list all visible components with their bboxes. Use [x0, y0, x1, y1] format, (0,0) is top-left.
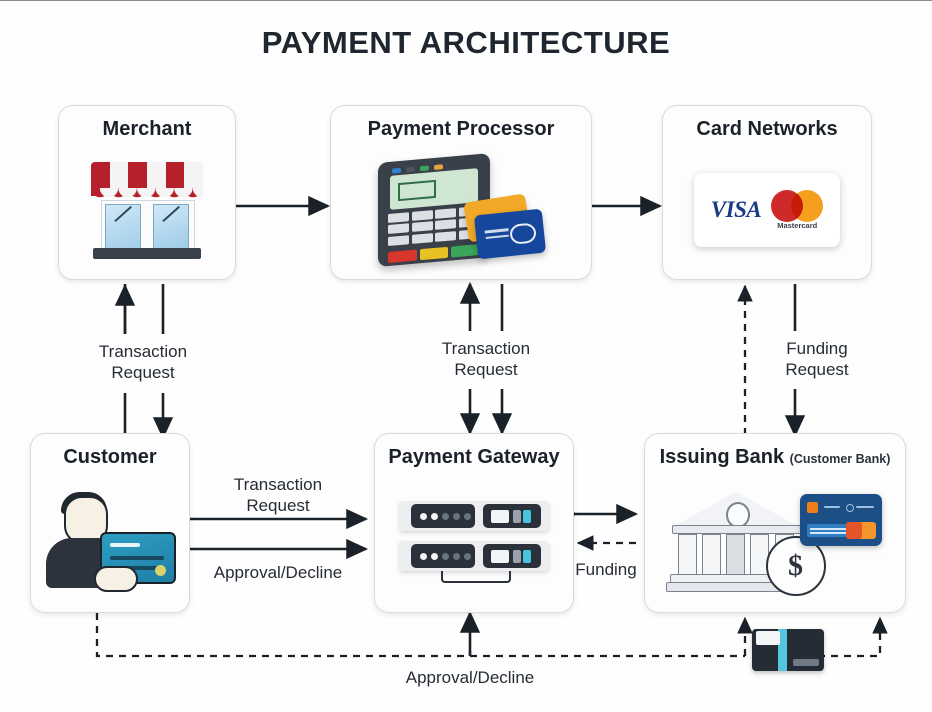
node-card-networks[interactable]: Card Networks VISA Mastercard: [662, 105, 872, 280]
edge-label-customer-gateway-top: Transaction Request: [190, 474, 366, 517]
bank-building-icon: $: [645, 468, 905, 612]
node-payment-gateway[interactable]: Payment Gateway: [374, 433, 574, 613]
node-card-networks-label: Card Networks: [696, 118, 837, 140]
server-rack-icon: [375, 468, 573, 612]
wallet-icon: [752, 629, 824, 671]
node-payment-processor[interactable]: Payment Processor: [330, 105, 592, 280]
node-issuing-bank-label: Issuing Bank (Customer Bank): [660, 446, 891, 468]
node-payment-gateway-label: Payment Gateway: [388, 446, 559, 468]
node-issuing-bank[interactable]: Issuing Bank (Customer Bank) $: [644, 433, 906, 613]
pos-terminal-icon: [331, 140, 591, 279]
diagram-canvas: PAYMENT ARCHITECTURE: [0, 0, 932, 711]
storefront-icon: [59, 140, 235, 279]
edge-label-bottom-return: Approval/Decline: [372, 667, 568, 688]
page-title: PAYMENT ARCHITECTURE: [0, 25, 932, 61]
customer-person-card-icon: [31, 468, 189, 612]
issuing-bank-main-label: Issuing Bank: [660, 446, 784, 468]
mastercard-logo: Mastercard: [771, 190, 823, 230]
node-customer-label: Customer: [63, 446, 156, 468]
visa-logo: VISA: [711, 197, 761, 223]
mastercard-wordmark: Mastercard: [771, 221, 823, 230]
edge-label-merchant-customer: Transaction Request: [63, 341, 223, 384]
edge-label-networks-bank: Funding Request: [742, 338, 892, 381]
node-merchant[interactable]: Merchant: [58, 105, 236, 280]
edge-label-customer-gateway-bottom: Approval/Decline: [182, 562, 374, 583]
node-merchant-label: Merchant: [103, 118, 192, 140]
issuing-bank-sub-label: (Customer Bank): [790, 452, 891, 466]
card-networks-icon: VISA Mastercard: [663, 140, 871, 279]
edge-label-processor-gateway: Transaction Request: [406, 338, 566, 381]
node-customer[interactable]: Customer: [30, 433, 190, 613]
edge-label-gateway-bank-funding: Funding: [556, 559, 656, 580]
node-payment-processor-label: Payment Processor: [368, 118, 555, 140]
